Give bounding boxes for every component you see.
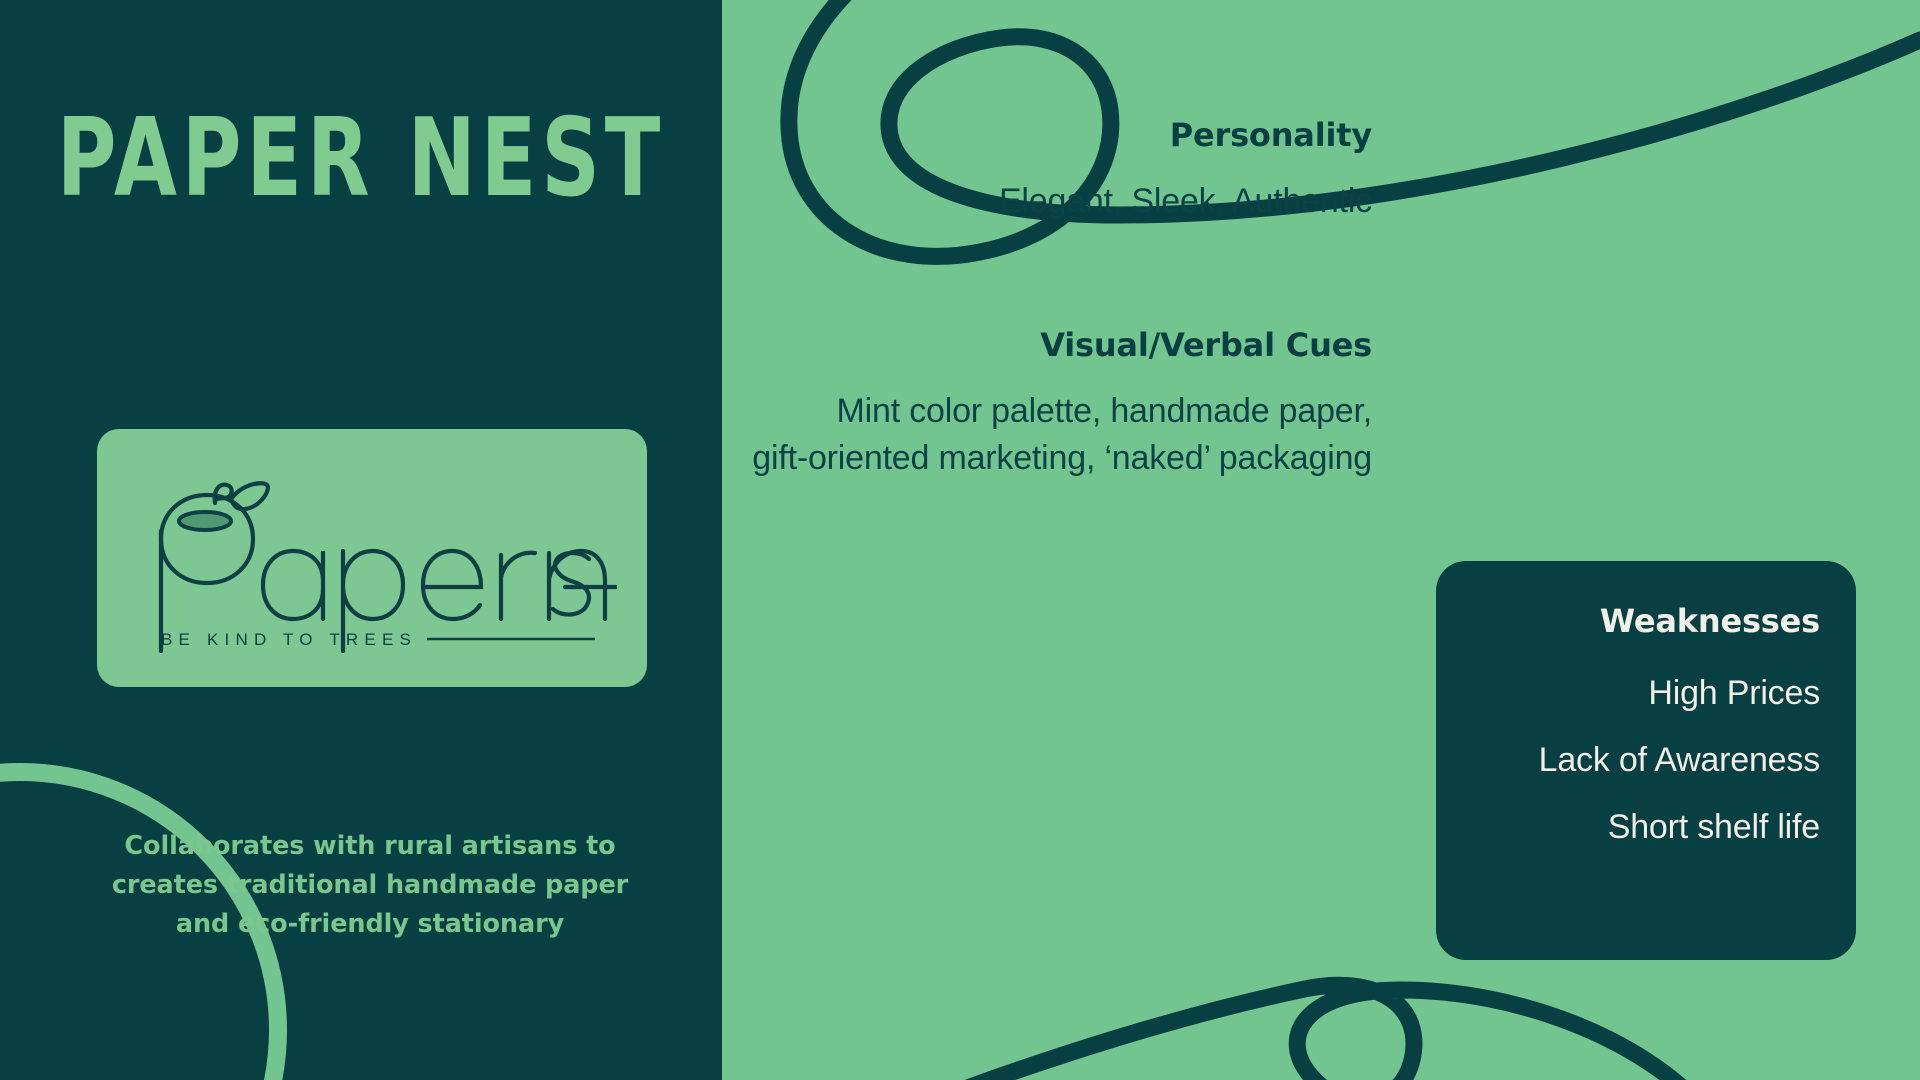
weaknesses-heading: Weaknesses [1436,602,1820,640]
logo-tagline: BE KIND TO TREES [161,630,417,649]
list-item: Lack of Awareness [1436,737,1820,784]
slide-canvas: PAPER NEST [0,0,1920,1080]
list-item: High Prices [1436,670,1820,717]
weaknesses-card: Weaknesses High Prices Lack of Awareness… [1436,561,1856,960]
weaknesses-list: High Prices Lack of Awareness Short shel… [1436,670,1820,851]
brand-description: Collaborates with rural artisans to crea… [90,827,650,943]
list-item: Short shelf life [1436,804,1820,851]
papernest-logo: BE KIND TO TREES [127,463,617,653]
left-brand-panel: PAPER NEST [0,0,722,1080]
brand-logo-card: BE KIND TO TREES [97,429,647,687]
page-title: PAPER NEST [11,104,711,212]
